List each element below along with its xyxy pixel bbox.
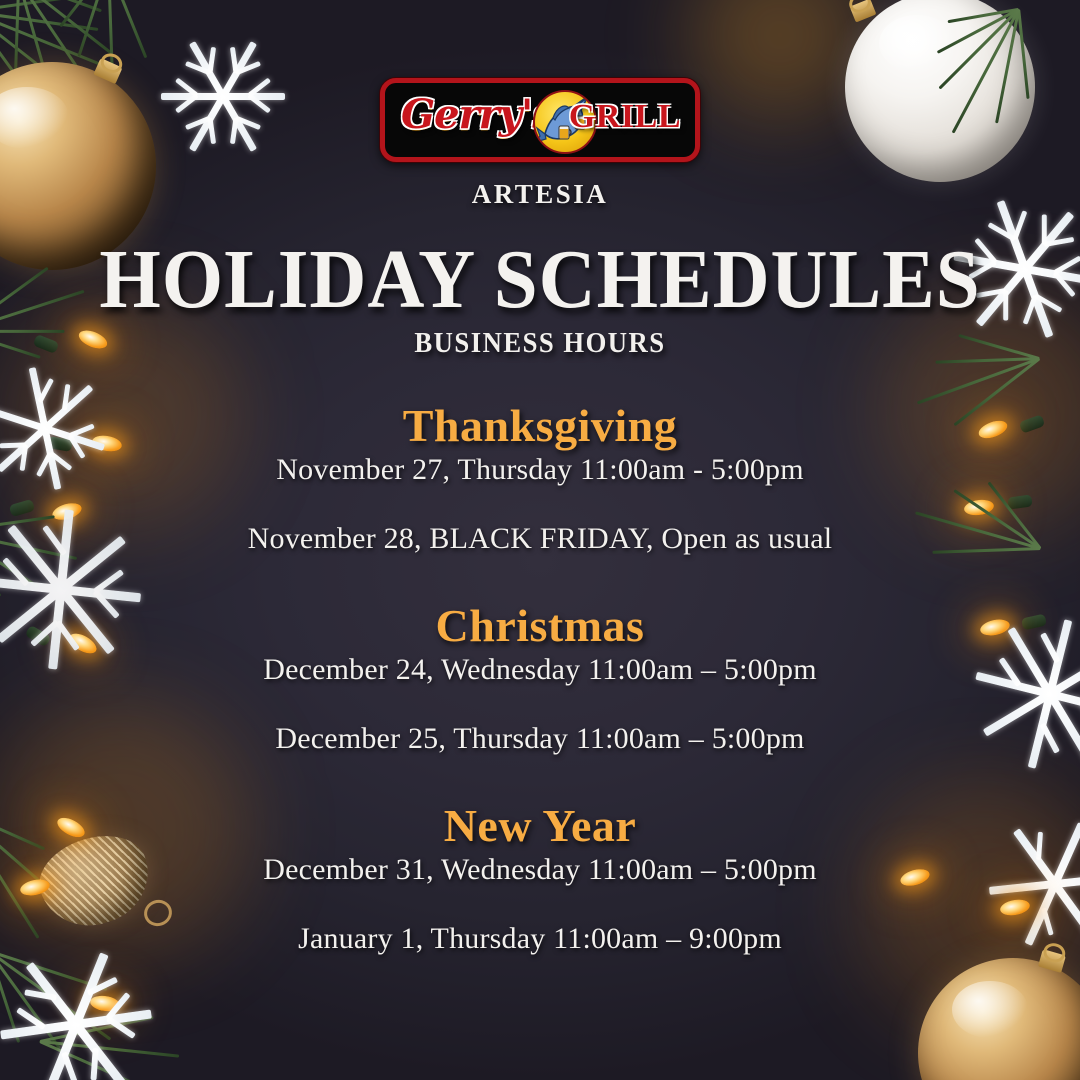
holiday-schedule-poster: Gerry's [0, 0, 1080, 1080]
branch-name: ARTESIA [0, 179, 1080, 210]
schedule-entry: November 28, BLACK FRIDAY, Open as usual [60, 522, 1020, 556]
schedule-entry: November 27, Thursday 11:00am - 5:00pm [60, 453, 1020, 487]
schedule-section: Thanksgiving November 27, Thursday 11:00… [60, 402, 1020, 556]
logo-plate: Gerry's [380, 78, 700, 162]
brand-logo: Gerry's [0, 78, 1080, 210]
title-block: HOLIDAY SCHEDULES BUSINESS HOURS [0, 240, 1080, 360]
schedule-entry: December 31, Wednesday 11:00am – 5:00pm [60, 853, 1020, 887]
schedule-entry: January 1, Thursday 11:00am – 9:00pm [60, 922, 1020, 956]
gold-ball-ornament-bottom-right [918, 958, 1080, 1080]
page-subtitle: BUSINESS HOURS [43, 327, 1037, 360]
holiday-heading: New Year [60, 802, 1020, 851]
holiday-heading: Thanksgiving [60, 402, 1020, 451]
holiday-heading: Christmas [60, 602, 1020, 651]
schedule-entry: December 24, Wednesday 11:00am – 5:00pm [60, 653, 1020, 687]
page-title: HOLIDAY SCHEDULES [32, 240, 1047, 321]
schedule-section: New Year December 31, Wednesday 11:00am … [60, 802, 1020, 956]
schedule-list: Thanksgiving November 27, Thursday 11:00… [60, 402, 1020, 956]
logo-wordmark-gerrys: Gerry's [401, 91, 554, 138]
schedule-section: Christmas December 24, Wednesday 11:00am… [60, 602, 1020, 756]
schedule-entry: December 25, Thursday 11:00am – 5:00pm [60, 722, 1020, 756]
logo-wordmark-grill: GRILL [569, 98, 681, 136]
